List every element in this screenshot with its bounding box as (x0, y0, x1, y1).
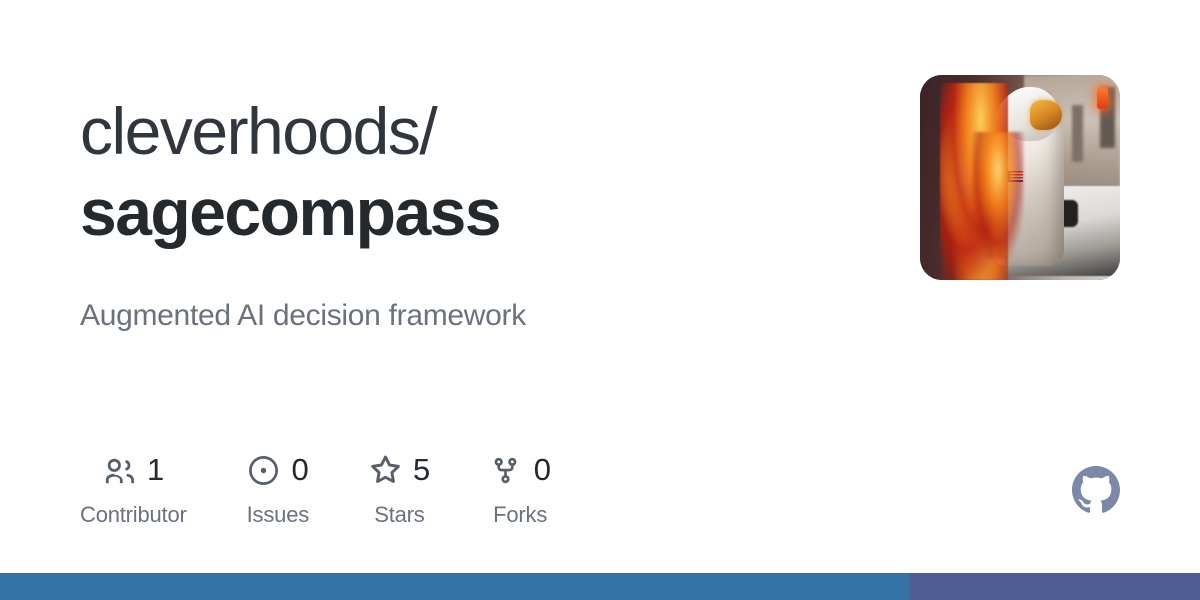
language-bar (0, 573, 1200, 600)
language-segment-primary (0, 573, 910, 600)
repo-owner[interactable]: cleverhoods/ (80, 96, 880, 167)
stat-stars-label: Stars (374, 502, 424, 528)
avatar-traffic-light (1097, 87, 1108, 109)
repo-forked-icon (490, 454, 522, 486)
stat-issues[interactable]: 0 Issues (247, 450, 309, 528)
repo-stats: 1 Contributor 0 Issues (80, 450, 611, 528)
stat-contributors-top: 1 (103, 450, 164, 490)
stat-stars[interactable]: 5 Stars (369, 450, 430, 528)
avatar (920, 75, 1120, 280)
stat-contributors[interactable]: 1 Contributor (80, 450, 187, 528)
stat-contributors-label: Contributor (80, 502, 187, 528)
repo-header: cleverhoods/ sagecompass Augmented AI de… (80, 0, 880, 333)
github-octocat-icon (1072, 466, 1120, 514)
stat-forks-top: 0 (490, 450, 551, 490)
stat-stars-value: 5 (413, 452, 430, 488)
stat-forks-label: Forks (493, 502, 547, 528)
repo-description: Augmented AI decision framework (80, 299, 880, 333)
issue-opened-icon (247, 454, 279, 486)
stat-stars-top: 5 (369, 450, 430, 490)
stat-issues-value: 0 (291, 452, 308, 488)
people-icon (103, 454, 135, 486)
page-title: cleverhoods/ sagecompass (80, 96, 880, 249)
stat-forks-value: 0 (534, 452, 551, 488)
repository-social-preview-card: cleverhoods/ sagecompass Augmented AI de… (0, 0, 1200, 600)
avatar-scene (920, 75, 1120, 280)
avatar-flames-secondary (972, 132, 1024, 259)
language-segment-secondary (910, 573, 1200, 600)
repo-name[interactable]: sagecompass (80, 177, 880, 248)
stat-forks[interactable]: 0 Forks (490, 450, 551, 528)
stat-contributors-value: 1 (147, 452, 164, 488)
stat-issues-top: 0 (247, 450, 308, 490)
stat-issues-label: Issues (247, 502, 309, 528)
star-icon (369, 454, 401, 486)
